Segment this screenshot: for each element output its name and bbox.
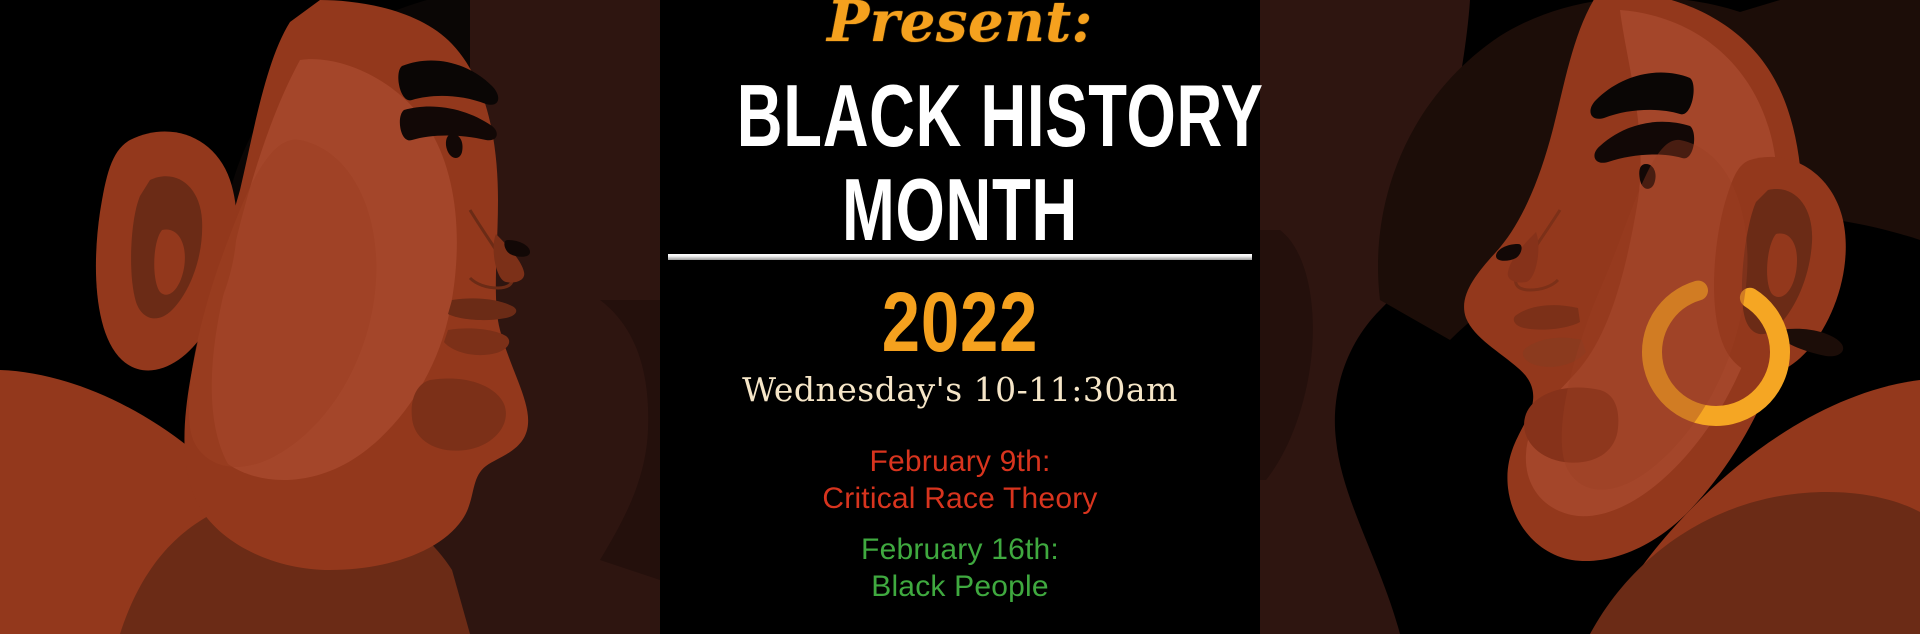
year-label: 2022 xyxy=(706,280,1214,364)
session-item-1: February 9th: Critical Race Theory xyxy=(650,444,1270,517)
session-2-topic: Black People xyxy=(650,569,1270,606)
female-profile-illustration xyxy=(1260,0,1920,634)
session-2-date: February 16th: xyxy=(650,532,1270,569)
schedule-label: Wednesday's 10-11:30am xyxy=(650,372,1270,408)
present-label: Present: xyxy=(650,0,1270,50)
session-1-date: February 9th: xyxy=(650,444,1270,481)
poster-text-column: Present: BLACK HISTORY MONTH 2022 Wednes… xyxy=(650,0,1270,634)
session-1-topic: Critical Race Theory xyxy=(650,481,1270,518)
headline-line-1: BLACK HISTORY xyxy=(737,74,1183,158)
divider-rule xyxy=(668,254,1252,260)
headline-line-2: MONTH xyxy=(737,168,1183,252)
black-history-month-poster: Present: BLACK HISTORY MONTH 2022 Wednes… xyxy=(0,0,1920,634)
male-profile-illustration xyxy=(0,0,660,634)
session-item-2: February 16th: Black People xyxy=(650,532,1270,605)
